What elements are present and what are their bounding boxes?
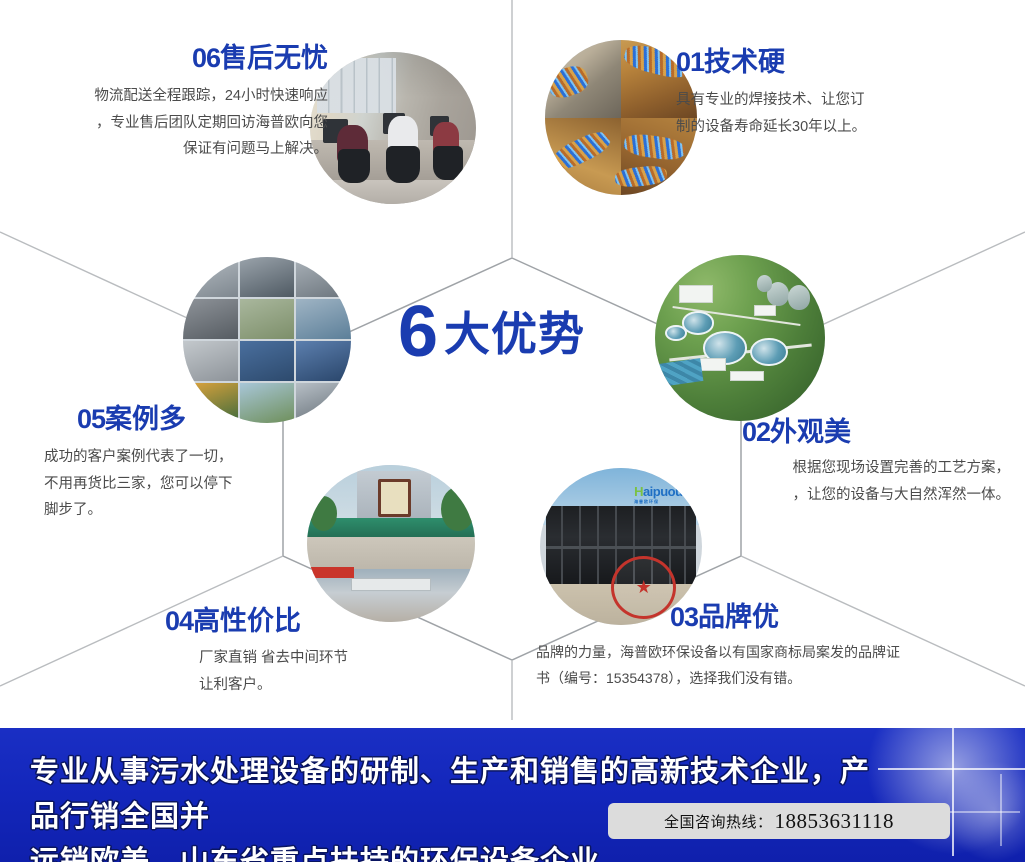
brand-logo-text: aipuou — [643, 484, 683, 499]
promo-infographic: 06售后无忧 物流配送全程跟踪，24小时快速响应 ，专业售后团队定期回访海普欧向… — [0, 0, 1025, 862]
sparkle-icon — [1000, 774, 1002, 846]
brand-logo-subtitle: 海普欧环保 — [634, 499, 683, 505]
brand-logo: Haipuou 海普欧环保 — [634, 484, 683, 505]
advantage-01-block: 01技术硬 具有专业的焊接技术、让您订 制的设备寿命延长30年以上。 — [676, 48, 1006, 140]
advantage-04-number: 04 — [165, 606, 193, 636]
center-label-text: 大优势 — [444, 308, 585, 360]
advantage-01-heading: 01技术硬 — [676, 48, 1006, 78]
advantage-02-heading: 02外观美 — [620, 418, 1010, 448]
advantage-05-heading: 05案例多 — [44, 405, 374, 435]
hotline-badge[interactable]: 全国咨询热线：18853631118 — [608, 803, 950, 839]
welding-closeup-photo — [545, 40, 697, 195]
aerial-treatment-plant-photo — [655, 255, 825, 421]
collage-cell — [183, 299, 238, 339]
case-collage-photo — [183, 257, 351, 423]
advantage-06-heading: 06售后无忧 — [10, 44, 328, 74]
advantage-02-number: 02 — [742, 417, 770, 447]
advantage-01-number: 01 — [676, 47, 704, 77]
collage-cell — [296, 257, 351, 297]
advantage-06-block: 06售后无忧 物流配送全程跟踪，24小时快速响应 ，专业售后团队定期回访海普欧向… — [10, 44, 328, 163]
office-staff-photo — [310, 52, 476, 204]
advantage-06-number: 06 — [192, 43, 220, 73]
collage-cell — [183, 257, 238, 297]
sparkle-icon — [952, 728, 954, 856]
banner-line-2: 远销欧美，山东省重点扶持的环保设备企业。 — [30, 840, 890, 862]
collage-cell — [296, 341, 351, 381]
brand-logo-initial: H — [634, 484, 643, 499]
advantage-06-description: 物流配送全程跟踪，24小时快速响应 ，专业售后团队定期回访海普欧向您 保证有问题… — [10, 83, 328, 163]
advantage-05-title: 案例多 — [105, 404, 186, 434]
bottom-banner: 专业从事污水处理设备的研制、生产和销售的高新技术企业，产品行销全国并 远销欧美，… — [0, 728, 1025, 862]
factory-gate-photo — [307, 465, 475, 622]
advantage-02-title: 外观美 — [770, 417, 851, 447]
advantage-05-number: 05 — [77, 404, 105, 434]
collage-cell — [240, 257, 295, 297]
advantage-04-block: 04高性价比 厂家直销 省去中间环节 让利客户。 — [165, 607, 495, 698]
advantage-03-heading: 03品牌优 — [536, 603, 1006, 633]
advantage-03-description: 品牌的力量，海普欧环保设备以有国家商标局案发的品牌证 书（编号：15354378… — [536, 640, 1006, 692]
center-label: 6大优势 — [398, 296, 585, 368]
collage-cell — [296, 299, 351, 339]
collage-cell — [183, 341, 238, 381]
center-number: 6 — [398, 292, 436, 372]
advantage-03-number: 03 — [670, 602, 698, 632]
hotline-label: 全国咨询热线： — [664, 811, 773, 832]
advantage-03-block: 03品牌优 品牌的力量，海普欧环保设备以有国家商标局案发的品牌证 书（编号：15… — [536, 603, 1006, 691]
collage-cell — [240, 341, 295, 381]
advantage-03-title: 品牌优 — [698, 602, 779, 632]
advantage-06-title: 售后无忧 — [220, 43, 328, 73]
advantage-04-title: 高性价比 — [193, 606, 301, 636]
advantage-01-description: 具有专业的焊接技术、让您订 制的设备寿命延长30年以上。 — [676, 87, 1006, 141]
collage-cell — [240, 299, 295, 339]
advantage-04-description: 厂家直销 省去中间环节 让利客户。 — [165, 645, 495, 699]
advantage-04-heading: 04高性价比 — [165, 607, 495, 637]
hotline-number: 18853631118 — [775, 809, 894, 834]
advantage-01-title: 技术硬 — [704, 47, 785, 77]
